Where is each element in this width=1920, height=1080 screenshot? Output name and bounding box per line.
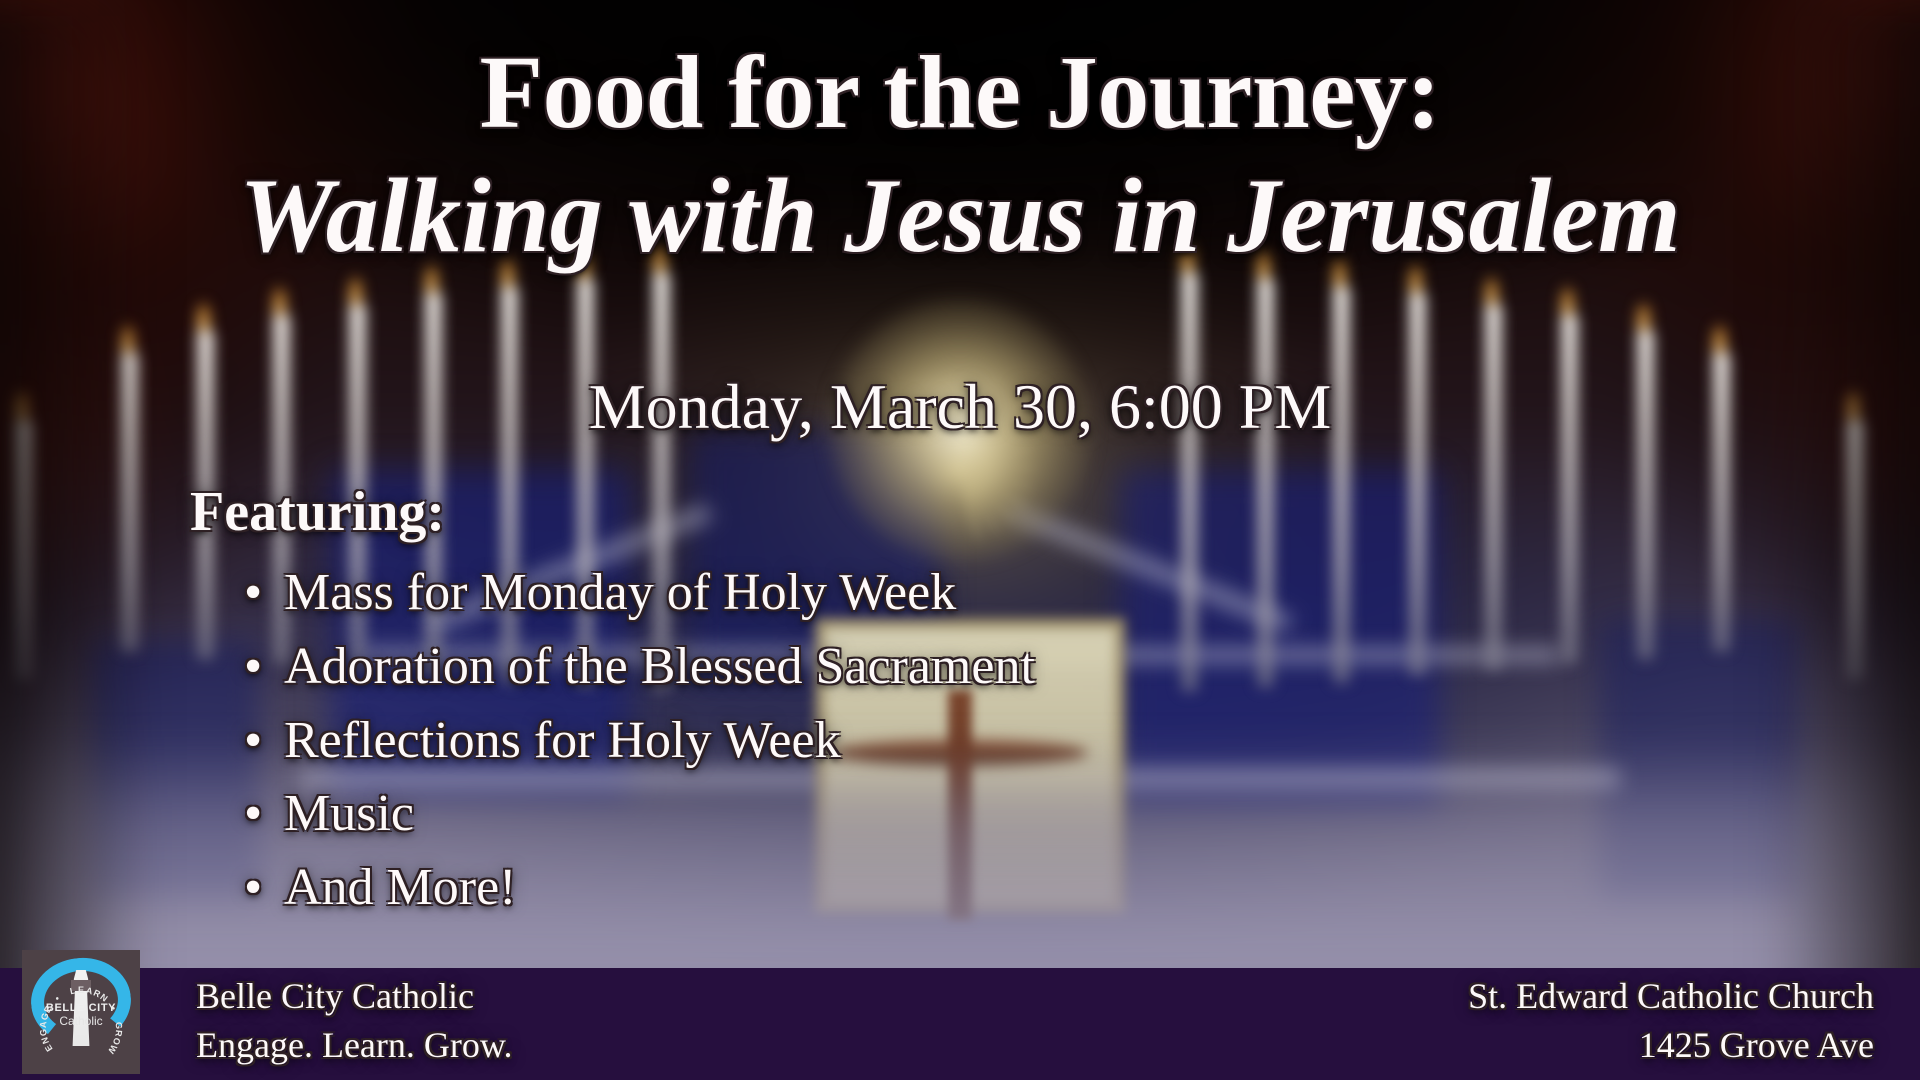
poster-content: Food for the Journey: Walking with Jesus… xyxy=(0,0,1920,1080)
featuring-heading: Featuring: xyxy=(190,480,445,544)
list-item: Reflections for Holy Week xyxy=(284,704,1035,778)
list-item: Mass for Monday of Holy Week xyxy=(284,556,1035,630)
featuring-list: Mass for Monday of Holy Week Adoration o… xyxy=(236,556,1035,925)
organization-tagline: Engage. Learn. Grow. xyxy=(196,1021,513,1070)
event-poster: Food for the Journey: Walking with Jesus… xyxy=(0,0,1920,1080)
poster-title-line2: Walking with Jesus in Jerusalem xyxy=(0,160,1920,271)
list-item: And More! xyxy=(284,851,1035,925)
footer-left-block: Belle City Catholic Engage. Learn. Grow. xyxy=(196,972,513,1070)
list-item: Adoration of the Blessed Sacrament xyxy=(284,630,1035,704)
venue-address: 1425 Grove Ave xyxy=(1468,1021,1874,1070)
organization-name: Belle City Catholic xyxy=(196,972,513,1021)
logo-ring-text: ENGAGE•LEARN•GROW xyxy=(31,994,131,1062)
venue-name: St. Edward Catholic Church xyxy=(1468,972,1874,1021)
footer-right-block: St. Edward Catholic Church 1425 Grove Av… xyxy=(1468,972,1874,1070)
belle-city-catholic-logo: BELLE CITY Catholic ENGAGE•LEARN•GROW xyxy=(22,950,140,1074)
list-item: Music xyxy=(284,777,1035,851)
event-date-time: Monday, March 30, 6:00 PM xyxy=(0,372,1920,442)
poster-title-line1: Food for the Journey: xyxy=(0,38,1920,147)
